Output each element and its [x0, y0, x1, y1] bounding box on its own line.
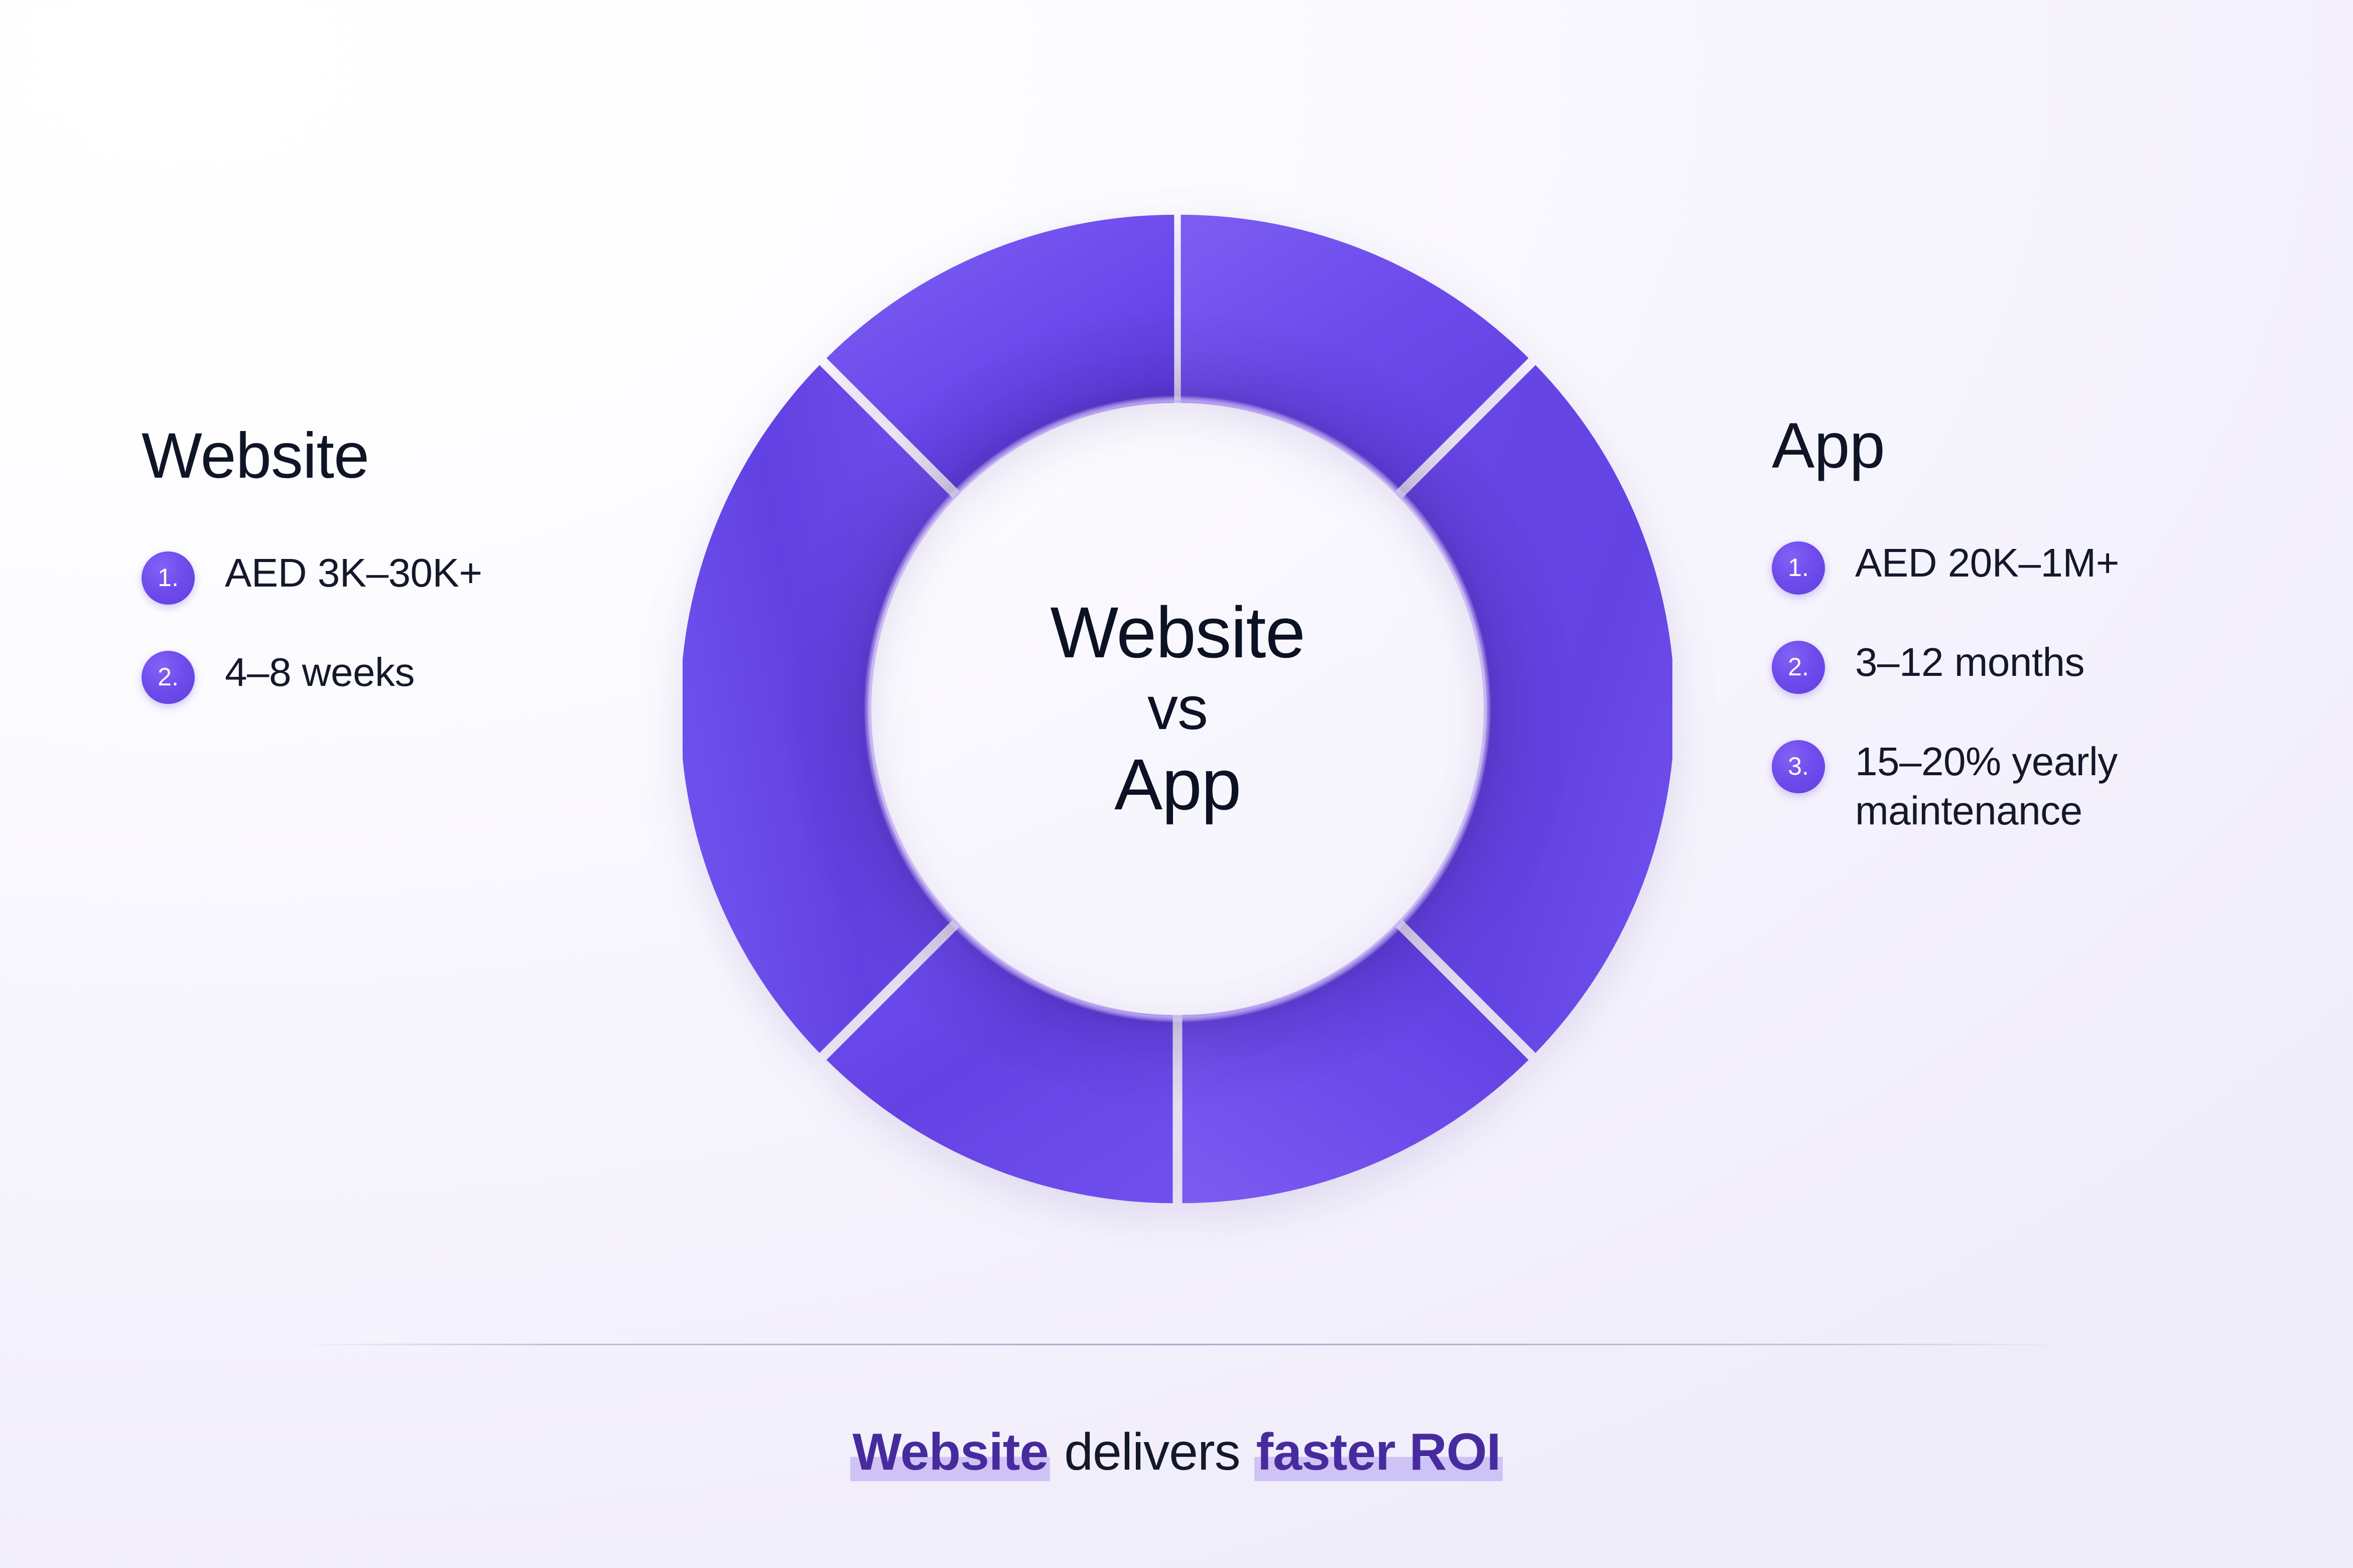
- donut-chart-svg: [683, 214, 1672, 1204]
- number-badge-label: 3.: [1788, 754, 1809, 779]
- number-badge-label: 2.: [1788, 654, 1809, 679]
- list-item-text: AED 20K–1M+: [1855, 538, 2119, 588]
- infographic-canvas: Website 1. AED 3K–30K+ 2. 4–8 weeks App …: [0, 0, 2353, 1568]
- list-item: 2. 3–12 months: [1772, 638, 2279, 694]
- footer-word-delivers: delivers: [1064, 1423, 1240, 1481]
- footer-highlight-roi: faster ROI: [1254, 1423, 1503, 1481]
- number-badge: 2.: [142, 651, 195, 704]
- number-badge: 1.: [1772, 541, 1825, 595]
- list-item-text: 4–8 weeks: [225, 648, 415, 697]
- list-item-text: AED 3K–30K+: [225, 548, 482, 598]
- number-badge: 3.: [1772, 740, 1825, 793]
- footer-tagline: Website delivers faster ROI: [0, 1422, 2353, 1482]
- number-badge-label: 2.: [158, 664, 179, 689]
- website-column-title: Website: [142, 424, 643, 488]
- list-item-text: 3–12 months: [1855, 638, 2084, 687]
- number-badge-label: 1.: [158, 565, 179, 590]
- app-column: App 1. AED 20K–1M+ 2. 3–12 months 3. 15–…: [1772, 414, 2279, 878]
- app-bullet-list: 1. AED 20K–1M+ 2. 3–12 months 3. 15–20% …: [1772, 538, 2279, 835]
- list-item: 3. 15–20% yearly maintenance: [1772, 737, 2279, 835]
- website-bullet-list: 1. AED 3K–30K+ 2. 4–8 weeks: [142, 548, 643, 704]
- number-badge: 1.: [142, 551, 195, 605]
- list-item: 1. AED 20K–1M+: [1772, 538, 2279, 595]
- number-badge: 2.: [1772, 641, 1825, 694]
- app-column-title: App: [1772, 414, 2279, 478]
- footer-plain-text: [1050, 1423, 1064, 1481]
- list-item: 2. 4–8 weeks: [142, 648, 643, 704]
- list-item: 1. AED 3K–30K+: [142, 548, 643, 605]
- list-item-text: 15–20% yearly maintenance: [1855, 737, 2257, 835]
- donut-chart: [683, 214, 1672, 1204]
- number-badge-label: 1.: [1788, 555, 1809, 580]
- website-column: Website 1. AED 3K–30K+ 2. 4–8 weeks: [142, 424, 643, 747]
- footer-highlight-website: Website: [850, 1423, 1050, 1481]
- footer-divider: [301, 1344, 2068, 1345]
- donut-inner-bevel: [683, 214, 1672, 1204]
